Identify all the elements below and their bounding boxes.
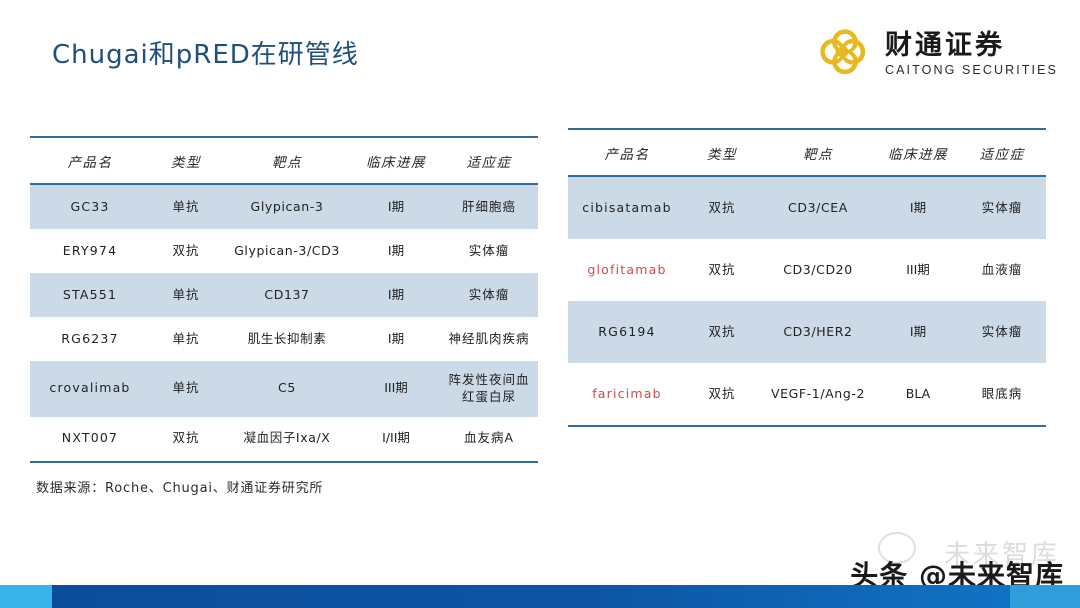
cell-indication: 血液瘤 [958, 239, 1046, 301]
cell-indication: 实体瘤 [440, 229, 538, 273]
table-row: RG6194双抗CD3/HER2I期实体瘤 [568, 301, 1046, 363]
cell-target: 凝血因子Ixa/X [222, 417, 352, 462]
page-title: Chugai和pRED在研管线 [52, 34, 359, 71]
cell-phase: BLA [878, 363, 958, 426]
table-row: RG6237单抗肌生长抑制素I期神经肌肉疾病 [30, 317, 538, 361]
source-note: 数据来源：Roche、Chugai、财通证券研究所 [36, 477, 323, 496]
brand-name-cn: 财通证券 [885, 32, 1058, 59]
column-header-indication: 适应症 [958, 129, 1046, 176]
table-header-row: 产品名 类型 靶点 临床进展 适应症 [30, 137, 538, 184]
watermark: 未来智库 头条 @未来智库 [816, 534, 1066, 590]
table-row: faricimab双抗VEGF-1/Ang-2BLA眼底病 [568, 363, 1046, 426]
cell-target: C5 [222, 361, 352, 417]
cell-type: 双抗 [150, 229, 222, 273]
cell-target: Glypican-3/CD3 [222, 229, 352, 273]
cell-indication: 实体瘤 [958, 301, 1046, 363]
cell-indication: 肝细胞癌 [440, 184, 538, 229]
table-row: crovalimab单抗C5III期阵发性夜间血红蛋白尿 [30, 361, 538, 417]
cell-type: 单抗 [150, 273, 222, 317]
column-header-product: 产品名 [30, 137, 150, 184]
cell-type: 单抗 [150, 317, 222, 361]
column-header-product: 产品名 [568, 129, 686, 176]
cell-phase: I期 [352, 184, 440, 229]
bottom-bar-main-segment [52, 585, 1010, 608]
table-right-body: cibisatamab双抗CD3/CEAI期实体瘤glofitamab双抗CD3… [568, 176, 1046, 426]
brand-text-block: 财通证券 CAITONG SECURITIES [885, 32, 1058, 77]
cell-type: 双抗 [686, 239, 758, 301]
table-row: NXT007双抗凝血因子Ixa/XI/II期血友病A [30, 417, 538, 462]
pipeline-table-right: 产品名 类型 靶点 临床进展 适应症 cibisatamab双抗CD3/CEAI… [568, 128, 1046, 427]
cell-type: 单抗 [150, 361, 222, 417]
cell-phase: I期 [352, 229, 440, 273]
cell-type: 双抗 [686, 176, 758, 239]
cell-target: CD3/HER2 [758, 301, 878, 363]
watermark-ghost-text: 未来智库 [944, 534, 1060, 571]
cell-product-name: STA551 [30, 273, 150, 317]
table-row: STA551单抗CD137I期实体瘤 [30, 273, 538, 317]
table-row: GC33单抗Glypican-3I期肝细胞癌 [30, 184, 538, 229]
cell-type: 单抗 [150, 184, 222, 229]
cell-type: 双抗 [150, 417, 222, 462]
pipeline-table-left: 产品名 类型 靶点 临床进展 适应症 GC33单抗Glypican-3I期肝细胞… [30, 136, 538, 463]
cell-target: CD3/CD20 [758, 239, 878, 301]
cell-indication: 阵发性夜间血红蛋白尿 [440, 361, 538, 417]
caitong-quatrefoil-logo-icon [817, 26, 873, 82]
cell-target: CD137 [222, 273, 352, 317]
bottom-bar-right-segment [1010, 585, 1080, 608]
table-left-header: 产品名 类型 靶点 临床进展 适应症 [30, 137, 538, 184]
bottom-bar-left-segment [0, 585, 52, 608]
column-header-phase: 临床进展 [352, 137, 440, 184]
table-row: glofitamab双抗CD3/CD20III期血液瘤 [568, 239, 1046, 301]
column-header-type: 类型 [150, 137, 222, 184]
cell-indication: 实体瘤 [440, 273, 538, 317]
cell-product-name: NXT007 [30, 417, 150, 462]
cell-target: VEGF-1/Ang-2 [758, 363, 878, 426]
cell-product-name: crovalimab [30, 361, 150, 417]
cell-target: Glypican-3 [222, 184, 352, 229]
cell-product-name: cibisatamab [568, 176, 686, 239]
cell-product-name: GC33 [30, 184, 150, 229]
cell-product-name: ERY974 [30, 229, 150, 273]
column-header-phase: 临床进展 [878, 129, 958, 176]
cell-type: 双抗 [686, 363, 758, 426]
watermark-ghost-mark-icon [878, 532, 916, 564]
cell-product-name: RG6194 [568, 301, 686, 363]
cell-indication: 神经肌肉疾病 [440, 317, 538, 361]
brand-name-en: CAITONG SECURITIES [885, 64, 1058, 77]
cell-product-name: glofitamab [568, 239, 686, 301]
cell-phase: I期 [878, 301, 958, 363]
column-header-target: 靶点 [222, 137, 352, 184]
brand-logo: 财通证券 CAITONG SECURITIES [817, 26, 1058, 82]
cell-phase: I期 [352, 317, 440, 361]
cell-phase: I期 [878, 176, 958, 239]
table-right-header: 产品名 类型 靶点 临床进展 适应症 [568, 129, 1046, 176]
slide-header: Chugai和pRED在研管线 财通证券 CAITONG SECURITIES [0, 0, 1080, 110]
cell-indication: 实体瘤 [958, 176, 1046, 239]
table-row: cibisatamab双抗CD3/CEAI期实体瘤 [568, 176, 1046, 239]
column-header-type: 类型 [686, 129, 758, 176]
table-left-body: GC33单抗Glypican-3I期肝细胞癌ERY974双抗Glypican-3… [30, 184, 538, 462]
cell-indication: 眼底病 [958, 363, 1046, 426]
cell-product-name: faricimab [568, 363, 686, 426]
cell-phase: III期 [878, 239, 958, 301]
table-header-row: 产品名 类型 靶点 临床进展 适应症 [568, 129, 1046, 176]
column-header-target: 靶点 [758, 129, 878, 176]
table-row: ERY974双抗Glypican-3/CD3I期实体瘤 [30, 229, 538, 273]
cell-phase: I期 [352, 273, 440, 317]
cell-type: 双抗 [686, 301, 758, 363]
cell-indication: 血友病A [440, 417, 538, 462]
cell-product-name: RG6237 [30, 317, 150, 361]
cell-target: 肌生长抑制素 [222, 317, 352, 361]
bottom-bar [0, 585, 1080, 608]
cell-target: CD3/CEA [758, 176, 878, 239]
column-header-indication: 适应症 [440, 137, 538, 184]
cell-phase: III期 [352, 361, 440, 417]
cell-phase: I/II期 [352, 417, 440, 462]
